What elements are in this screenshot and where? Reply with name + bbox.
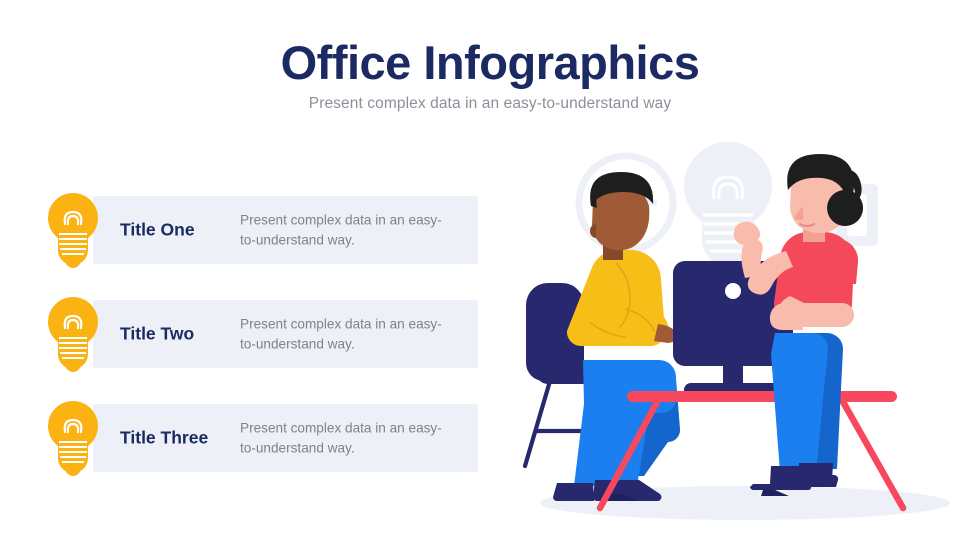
feature-list: Title One Present complex data in an eas…: [44, 196, 484, 508]
list-item[interactable]: Title Three Present complex data in an e…: [44, 404, 484, 472]
list-item-title: Title Two: [120, 324, 194, 345]
slide-canvas: Office Infographics Present complex data…: [0, 0, 980, 551]
page-subtitle: Present complex data in an easy-to-under…: [0, 95, 980, 113]
lightbulb-icon: [44, 188, 102, 272]
list-item[interactable]: Title One Present complex data in an eas…: [44, 196, 484, 264]
lightbulb-icon: [44, 396, 102, 480]
list-item-description: Present complex data in an easy-to-under…: [240, 418, 445, 457]
seated-person: [553, 172, 680, 501]
list-item-description: Present complex data in an easy-to-under…: [240, 314, 445, 353]
list-item-title: Title Three: [120, 428, 208, 449]
lightbulb-icon: [44, 292, 102, 376]
page-title: Office Infographics: [0, 38, 980, 87]
list-item-title: Title One: [120, 220, 195, 241]
slide-header: Office Infographics Present complex data…: [0, 38, 980, 113]
office-teamwork-illustration: [495, 128, 980, 548]
list-item-description: Present complex data in an easy-to-under…: [240, 210, 445, 249]
list-item[interactable]: Title Two Present complex data in an eas…: [44, 300, 484, 368]
monitor-logo: [725, 283, 741, 299]
